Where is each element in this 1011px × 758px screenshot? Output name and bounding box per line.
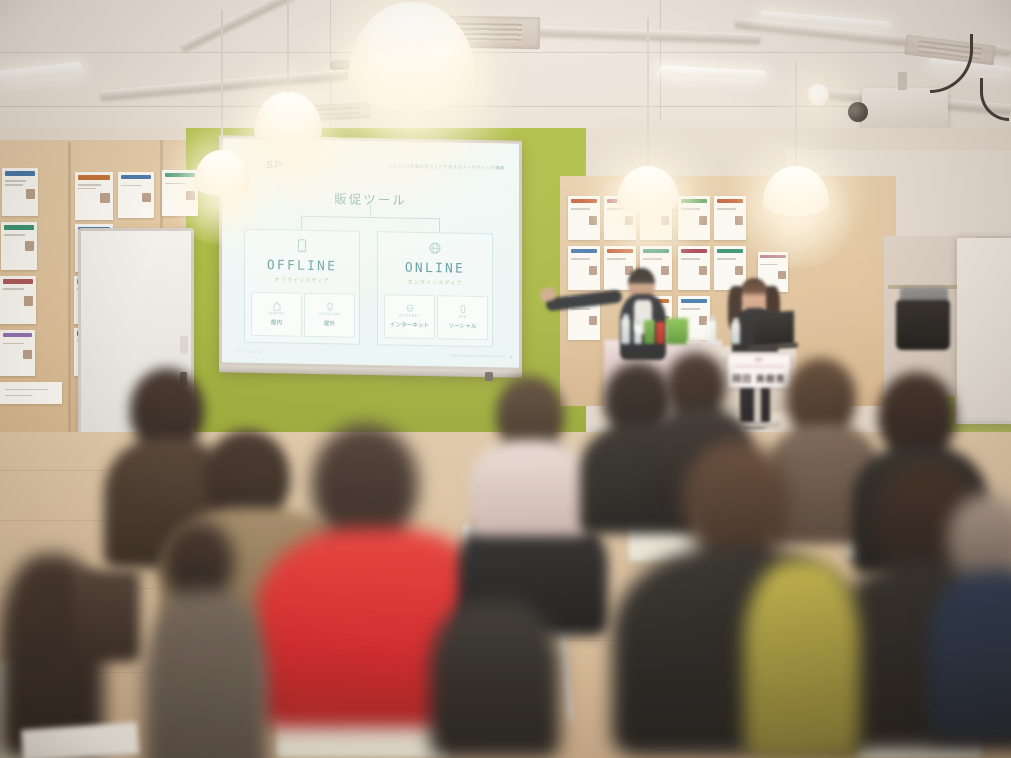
whiteboard-eraser[interactable]: [180, 336, 188, 354]
connector-line: [370, 205, 372, 217]
indoor-icon: [273, 298, 281, 308]
green-product-package: [644, 320, 655, 344]
posted-document: [1, 222, 37, 270]
sub-indoor-en: INDOOR: [252, 311, 301, 316]
sub-internet-jp: インターネット: [385, 320, 434, 329]
seminar-room-photo: SP ここから1年後の売り上げを変えるマーケティング講座 販促ツール OFFLI…: [0, 0, 1011, 758]
laptop-screen: [754, 311, 794, 348]
slide-logo: SP: [266, 159, 283, 171]
slide-footer-right: Sales Promotion Marketing Seminar: [451, 353, 505, 358]
sub-social-en: SNS: [438, 314, 487, 319]
outdoor-icon: [326, 299, 334, 309]
sub-indoor: INDOOR 屋内: [251, 292, 302, 337]
placard-org: 講師: [728, 358, 790, 363]
water-bottle: [707, 320, 716, 344]
ceiling-tile-seam: [660, 0, 661, 120]
posted-document: [714, 196, 746, 240]
branch-offline-title: OFFLINE: [245, 258, 359, 275]
projection-screen-pull[interactable]: [485, 372, 493, 381]
cork-panel-seam: [68, 142, 71, 438]
branch-online-title: ONLINE: [378, 260, 492, 277]
slide-header-note: ここから1年後の売り上げを変えるマーケティング講座: [388, 163, 505, 171]
sub-outdoor-jp: 屋外: [305, 319, 354, 328]
connector-line: [301, 216, 440, 221]
table-paper: [686, 340, 702, 344]
sub-indoor-jp: 屋内: [252, 318, 301, 327]
social-icon: [459, 302, 467, 312]
branch-online: ONLINE オンラインメディア INTERNET インターネット SNS: [377, 231, 493, 347]
water-bottle: [621, 318, 630, 344]
posted-document: [0, 330, 35, 376]
posted-document: [2, 168, 38, 216]
connector-line: [439, 218, 441, 232]
slide-footer-left: SP tools: [236, 349, 263, 355]
connector-line: [301, 216, 303, 230]
water-bottle: [634, 324, 642, 344]
presenter-head: [740, 278, 768, 311]
red-product-package: [656, 322, 665, 344]
sub-social-jp: ソーシャル: [438, 321, 487, 330]
posted-document: [678, 246, 710, 290]
slide-page-number: 8: [510, 355, 512, 360]
water-bottle: [731, 322, 740, 344]
posted-document: [162, 170, 198, 216]
posted-document: [0, 382, 62, 404]
smartphone-icon: [296, 239, 309, 254]
posted-document: [75, 172, 113, 220]
name-placard: 講師 岡田 美樹恵: [727, 354, 791, 388]
ceiling-tile-seam: [0, 52, 1011, 53]
branch-offline: OFFLINE オフラインメディア INDOOR 屋内 OUTDOOR: [244, 229, 360, 345]
sub-outdoor-en: OUTDOOR: [305, 312, 354, 317]
sub-internet: INTERNET インターネット: [384, 294, 435, 339]
posted-document: [678, 196, 710, 240]
posted-document: [568, 246, 600, 290]
slide-surface: SP ここから1年後の売り上げを変えるマーケティング講座 販促ツール OFFLI…: [222, 138, 519, 367]
green-product-package: [666, 318, 688, 344]
right-white-panel: [957, 238, 1011, 418]
branch-online-subtitle: オンラインメディア: [378, 278, 492, 287]
male-presenter: [604, 268, 682, 364]
sub-internet-en: INTERNET: [385, 313, 434, 318]
posted-document: [568, 196, 600, 240]
posted-document: [0, 276, 36, 324]
bag: [74, 570, 140, 662]
sub-social: SNS ソーシャル: [437, 295, 488, 340]
sub-outdoor: OUTDOOR 屋外: [304, 293, 355, 338]
placard-name: 岡田 美樹恵: [728, 372, 790, 385]
posted-document: [118, 172, 154, 218]
internet-icon: [406, 301, 414, 311]
branch-offline-subtitle: オフラインメディア: [245, 276, 359, 285]
projection-screen: SP ここから1年後の売り上げを変えるマーケティング講座 販促ツール OFFLI…: [219, 135, 522, 377]
globe-icon: [429, 241, 442, 256]
hanging-coat: [896, 300, 950, 350]
ceiling-projector: [862, 88, 948, 132]
